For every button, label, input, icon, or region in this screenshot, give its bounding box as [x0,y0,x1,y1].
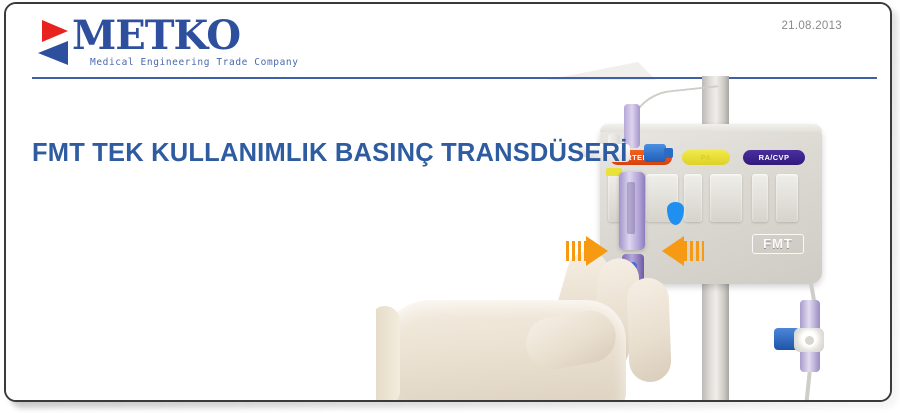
arrow-motion-lines [684,241,704,261]
glove-cuff [376,306,400,400]
blue-luer-cap [644,144,666,162]
logo-tagline: Medical Engineering Trade Company [90,57,299,68]
logo-wordmark: METKO [72,13,240,59]
panel-slot [684,174,702,222]
glove-finger [626,277,672,382]
arrow-head-right-icon [586,236,608,266]
red-triangle-icon [42,20,68,42]
company-logo[interactable]: METKO Medical Engineering Trade Company [38,15,278,73]
lower-tubing-top [808,276,816,302]
panel-slot [752,174,768,222]
slide-frame: METKO Medical Engineering Trade Company … [4,2,892,402]
product-photo: ARTERIAL PA RA/CVP FMT [376,76,890,400]
fmt-emboss-logo: FMT [752,234,804,254]
label-pa: PA [682,150,730,165]
lower-stopcock-knob [794,328,824,352]
lower-stopcock-assembly [776,276,846,400]
squeeze-arrow-left [662,236,716,266]
panel-slot [710,174,742,222]
arrow-motion-lines [566,241,586,261]
presentation-slide: METKO Medical Engineering Trade Company … [0,0,900,413]
slide-date: 21.08.2013 [781,20,842,32]
blue-triangle-icon [38,41,68,65]
page-title: FMT TEK KULLANIMLIK BASINÇ TRANSDÜSERİ [32,139,627,168]
transducer-body [619,172,645,250]
panel-slot [776,174,798,222]
gloved-hand [376,244,706,400]
arrow-head-left-icon [662,236,684,266]
label-ra-cvp: RA/CVP [743,150,805,165]
squeeze-arrow-right [566,236,620,266]
lower-tubing-bottom [804,372,811,400]
slide-content-area: METKO Medical Engineering Trade Company … [6,4,890,400]
